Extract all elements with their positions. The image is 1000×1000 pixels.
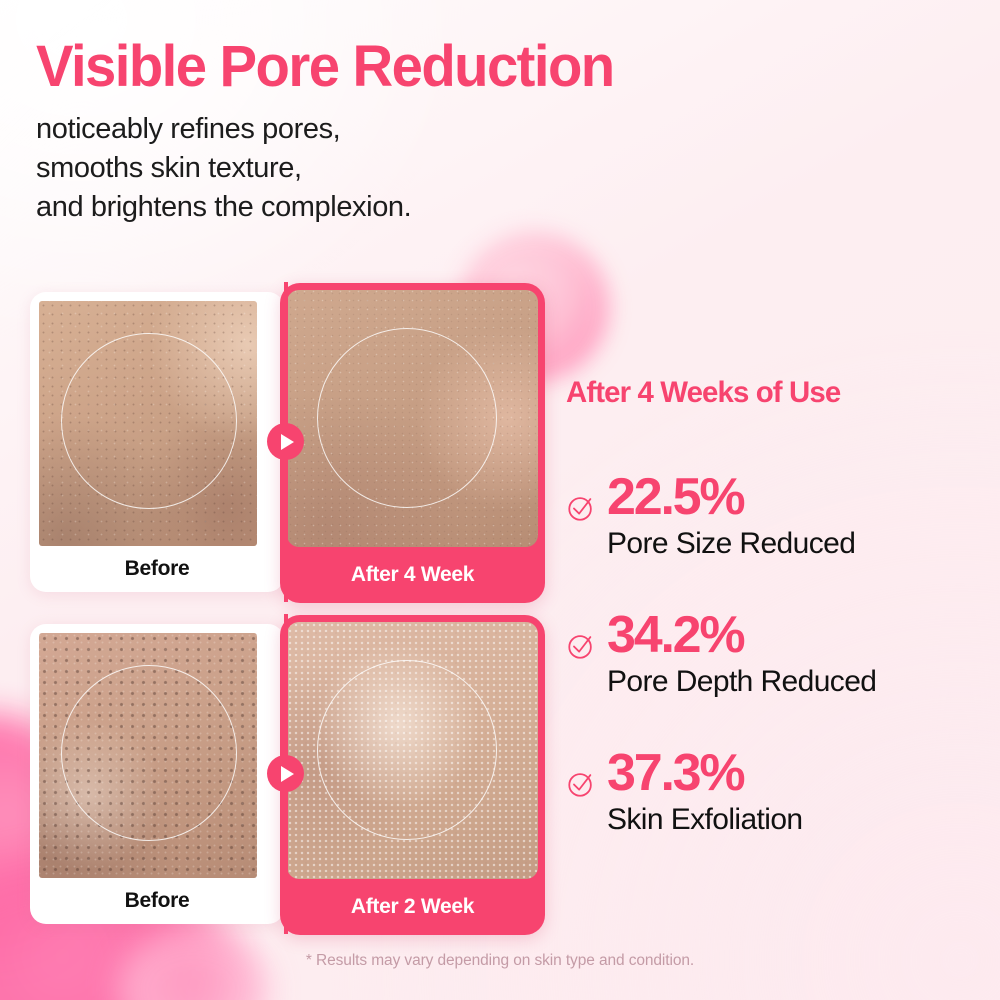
subtitle-line-3: and brightens the complexion. [36, 188, 796, 227]
stats-panel: After 4 Weeks of Use 22.5% Pore Size Red… [566, 376, 976, 837]
subtitle-line-2: smooths skin texture, [36, 149, 796, 188]
before-label-1: Before [30, 546, 284, 592]
stat-value: 22.5% [607, 471, 855, 523]
arrow-circle [267, 755, 304, 792]
stats-heading: After 4 Weeks of Use [566, 376, 968, 410]
arrow-circle [267, 423, 304, 460]
zoom-circle-overlay [317, 328, 497, 508]
stat-body: 37.3% Skin Exfoliation [607, 747, 803, 837]
before-panel-2: Before [30, 624, 284, 924]
stat-value: 37.3% [607, 747, 803, 799]
subtitle: noticeably refines pores, smooths skin t… [36, 110, 796, 227]
zoom-circle-overlay [61, 665, 237, 841]
stat-body: 34.2% Pore Depth Reduced [607, 609, 876, 699]
check-circle-icon [566, 769, 596, 799]
zoom-circle-overlay [61, 333, 237, 509]
after-label-1: After 4 Week [287, 547, 538, 603]
after-photo-2 [287, 622, 538, 879]
stat-row: 22.5% Pore Size Reduced [566, 471, 976, 561]
before-label-2: Before [30, 878, 284, 924]
arrow-triangle [281, 766, 294, 782]
after-label-2: After 2 Week [287, 879, 538, 935]
check-circle-icon [566, 631, 596, 661]
footnote-disclaimer: * Results may vary depending on skin typ… [0, 952, 1000, 970]
stat-label: Skin Exfoliation [607, 803, 803, 837]
after-photo-1 [287, 290, 538, 547]
header: Visible Pore Reduction noticeably refine… [36, 36, 796, 227]
after-panel-2: After 2 Week [280, 615, 545, 935]
stat-body: 22.5% Pore Size Reduced [607, 471, 855, 561]
check-circle-icon [566, 493, 596, 523]
zoom-circle-overlay [317, 660, 497, 840]
before-photo-1 [39, 301, 257, 546]
page-title: Visible Pore Reduction [36, 36, 773, 98]
arrow-triangle [281, 434, 294, 450]
before-panel-1: Before [30, 292, 284, 592]
before-photo-2 [39, 633, 257, 878]
play-arrow-icon[interactable] [267, 755, 304, 792]
stat-label: Pore Depth Reduced [607, 665, 876, 699]
subtitle-line-1: noticeably refines pores, [36, 110, 796, 149]
play-arrow-icon[interactable] [267, 423, 304, 460]
stat-row: 37.3% Skin Exfoliation [566, 747, 976, 837]
stat-value: 34.2% [607, 609, 876, 661]
stat-row: 34.2% Pore Depth Reduced [566, 609, 976, 699]
after-panel-1: After 4 Week [280, 283, 545, 603]
stat-label: Pore Size Reduced [607, 527, 855, 561]
